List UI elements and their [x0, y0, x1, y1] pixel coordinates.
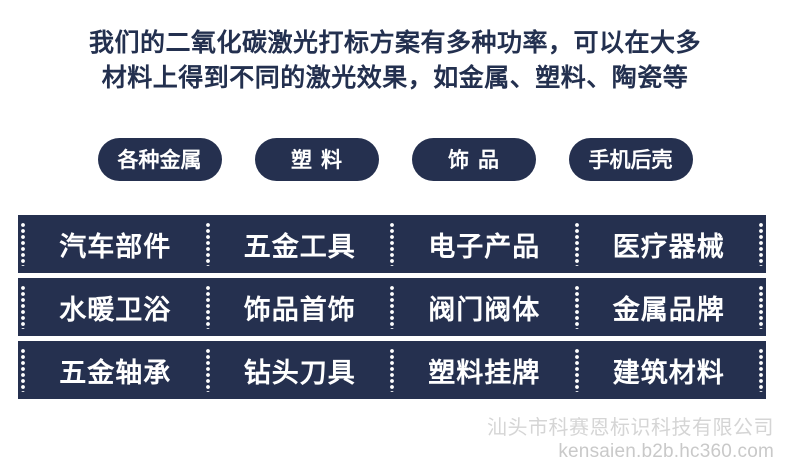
- pill-metal[interactable]: 各种金属: [98, 138, 222, 181]
- grid-cell-drill-bits[interactable]: 钻头刀具: [213, 341, 388, 399]
- dotted-divider-icon: [387, 348, 397, 392]
- grid-row: 汽车部件 五金工具 电子产品 医疗器械: [18, 215, 766, 273]
- dotted-divider-icon: [203, 222, 213, 266]
- dotted-divider-icon: [572, 285, 582, 329]
- dotted-divider-icon: [203, 285, 213, 329]
- headline-line-2: 材料上得到不同的激光效果，如金属、塑料、陶瓷等: [0, 61, 790, 96]
- dotted-divider-icon: [572, 348, 582, 392]
- dotted-divider-icon: [387, 222, 397, 266]
- page-headline: 我们的二氧化碳激光打标方案有多种功率，可以在大多 材料上得到不同的激光效果，如金…: [0, 26, 790, 96]
- watermark: 汕头市科赛恩标识科技有限公司 kensaien.b2b.hc360.com: [487, 417, 774, 463]
- pill-phone-case[interactable]: 手机后壳: [569, 138, 693, 181]
- pill-jewelry[interactable]: 饰品: [412, 138, 536, 181]
- grid-cell-metal-brand[interactable]: 金属品牌: [582, 278, 757, 336]
- grid-cell-bearings[interactable]: 五金轴承: [28, 341, 203, 399]
- grid-cell-electronics[interactable]: 电子产品: [397, 215, 572, 273]
- dotted-divider-icon: [756, 285, 766, 329]
- grid-row: 五金轴承 钻头刀具 塑料挂牌 建筑材料: [18, 341, 766, 399]
- dotted-divider-icon: [387, 285, 397, 329]
- dotted-divider-icon: [18, 348, 28, 392]
- grid-cell-auto-parts[interactable]: 汽车部件: [28, 215, 203, 273]
- watermark-company-name: 汕头市科赛恩标识科技有限公司: [487, 417, 774, 440]
- grid-cell-jewelry-accessories[interactable]: 饰品首饰: [213, 278, 388, 336]
- grid-row: 水暖卫浴 饰品首饰 阀门阀体 金属品牌: [18, 278, 766, 336]
- pill-plastic[interactable]: 塑料: [255, 138, 379, 181]
- grid-cell-plumbing[interactable]: 水暖卫浴: [28, 278, 203, 336]
- dotted-divider-icon: [18, 285, 28, 329]
- dotted-divider-icon: [203, 348, 213, 392]
- application-grid: 汽车部件 五金工具 电子产品 医疗器械 水暖卫浴 饰品首饰 阀门阀体 金属品牌 …: [18, 215, 766, 399]
- dotted-divider-icon: [756, 348, 766, 392]
- dotted-divider-icon: [18, 222, 28, 266]
- grid-cell-medical-devices[interactable]: 医疗器械: [582, 215, 757, 273]
- material-pill-row: 各种金属 塑料 饰品 手机后壳: [0, 137, 790, 181]
- dotted-divider-icon: [572, 222, 582, 266]
- grid-cell-building-materials[interactable]: 建筑材料: [582, 341, 757, 399]
- headline-line-1: 我们的二氧化碳激光打标方案有多种功率，可以在大多: [0, 26, 790, 61]
- grid-cell-hardware-tools[interactable]: 五金工具: [213, 215, 388, 273]
- dotted-divider-icon: [756, 222, 766, 266]
- watermark-url: kensaien.b2b.hc360.com: [487, 441, 774, 463]
- grid-cell-plastic-tags[interactable]: 塑料挂牌: [397, 341, 572, 399]
- grid-cell-valves[interactable]: 阀门阀体: [397, 278, 572, 336]
